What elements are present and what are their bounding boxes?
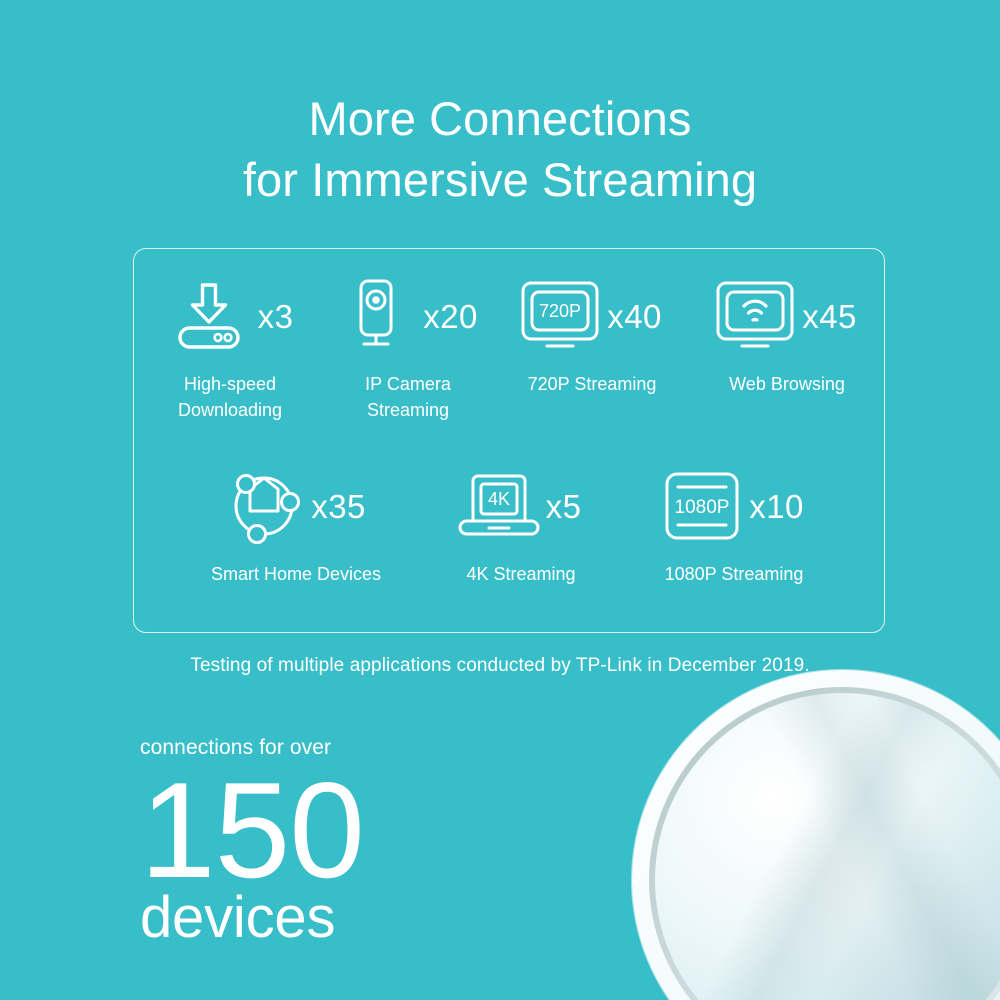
product-highlight-a [655,693,1000,1000]
feature-label: Smart Home Devices [171,562,421,588]
feature-multiplier: x20 [423,300,477,333]
stat-block: connections for over 150 devices [140,735,364,947]
feature-card: x3 High-speed Downloading [133,248,885,633]
feature-icon-and-multiplier: x45 [692,275,882,357]
feature-multiplier: x10 [749,490,803,523]
feature-label: Web Browsing [692,372,882,398]
feature-icon-and-multiplier: 1080P x10 [621,465,847,547]
feature-1080p-streaming: 1080P x10 1080P Streaming [621,465,847,588]
product-inner-ring [649,687,1000,1000]
stat-number: 150 [140,768,364,893]
feature-icon-and-multiplier: x35 [171,465,421,547]
feature-label: 1080P Streaming [621,562,847,588]
feature-label: High-speed Downloading [136,372,324,423]
monitor-wifi-icon [717,278,793,354]
feature-icon-and-multiplier: x3 [136,275,324,357]
product-highlight-b [655,693,1000,1000]
product-highlight-c [655,693,1000,1000]
feature-ip-camera-streaming: x20 IP Camera Streaming [324,275,492,423]
feature-label: IP Camera Streaming [324,372,492,423]
feature-multiplier: x40 [607,300,661,333]
promo-banner: More Connections for Immersive Streaming [0,0,1000,1000]
monitor-720p-icon: 720P [522,278,598,354]
product-photo [632,670,1000,1000]
feature-multiplier: x3 [258,300,294,333]
stat-unit: devices [140,889,364,947]
download-router-icon [173,278,249,354]
product-top-face [655,693,1000,1000]
feature-row-2: x35 Smart Home Devices [134,465,884,588]
feature-4k-streaming: 4K x5 4K Streaming [421,465,621,588]
feature-row-1: x3 High-speed Downloading [134,275,884,423]
feature-multiplier: x5 [546,490,582,523]
feature-multiplier: x45 [802,300,856,333]
feature-720p-streaming: 720P x40 720P Streaming [492,275,692,398]
page-title-line-1: More Connections [0,88,1000,149]
feature-high-speed-downloading: x3 High-speed Downloading [136,275,324,423]
page-title: More Connections for Immersive Streaming [0,88,1000,210]
screen-1080p-icon: 1080P [664,468,740,544]
laptop-4k-icon: 4K [461,468,537,544]
ip-camera-icon [338,278,414,354]
page-title-line-2: for Immersive Streaming [0,149,1000,210]
product-outer-shell [632,670,1000,1000]
smart-home-network-icon [226,468,302,544]
monitor-720p-icon-text: 720P [539,301,581,321]
feature-icon-and-multiplier: 720P x40 [492,275,692,357]
feature-smart-home-devices: x35 Smart Home Devices [171,465,421,588]
feature-multiplier: x35 [311,490,365,523]
feature-web-browsing: x45 Web Browsing [692,275,882,398]
footnote-text: Testing of multiple applications conduct… [0,655,1000,677]
screen-1080p-icon-text: 1080P [675,497,730,518]
feature-label: 4K Streaming [421,562,621,588]
feature-label: 720P Streaming [492,372,692,398]
feature-icon-and-multiplier: x20 [324,275,492,357]
feature-icon-and-multiplier: 4K x5 [421,465,621,547]
laptop-4k-icon-text: 4K [488,489,510,509]
